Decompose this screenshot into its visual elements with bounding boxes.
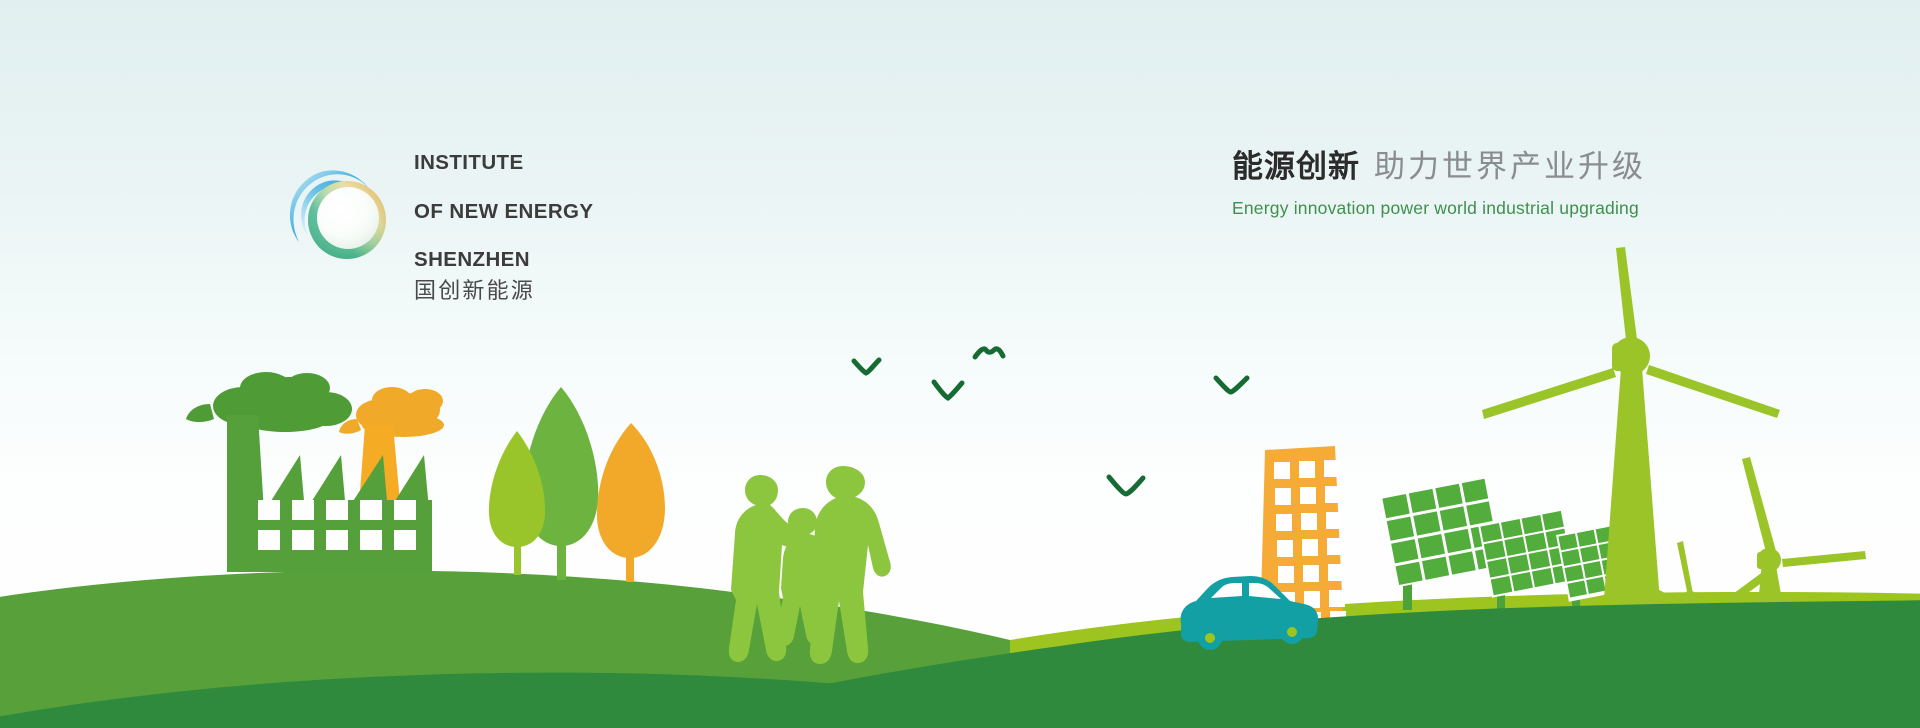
brand-name-en-line2: OF NEW ENERGY [414, 200, 593, 223]
brand-name-en-line3: SHENZHEN [414, 248, 530, 271]
scene-illustration [0, 0, 1920, 728]
brand-name-cn: 国创新能源 [414, 281, 593, 303]
institute-logo-icon [278, 154, 396, 272]
slogan-chinese-light: 助力世界产业升级 [1374, 149, 1646, 185]
slogan-chinese-strong: 能源创新 [1232, 149, 1360, 185]
brand-name-en-line1: INSTITUTE [414, 151, 524, 174]
sphere-swoosh-logo-icon [278, 154, 396, 272]
brand-name-en: INSTITUTE OF NEW ENERGY SHENZHEN [414, 127, 593, 272]
brand-lockup: INSTITUTE OF NEW ENERGY SHENZHEN 国创新能源 [278, 123, 593, 303]
energy-banner: INSTITUTE OF NEW ENERGY SHENZHEN 国创新能源 能… [0, 0, 1920, 728]
slogan-english: Energy innovation power world industrial… [1232, 198, 1646, 219]
slogan-chinese: 能源创新助力世界产业升级 [1232, 150, 1646, 184]
slogan-block: 能源创新助力世界产业升级 Energy innovation power wor… [1232, 150, 1646, 219]
car-wheel [1205, 633, 1215, 643]
brand-text: INSTITUTE OF NEW ENERGY SHENZHEN 国创新能源 [414, 123, 593, 303]
car-wheel [1287, 627, 1297, 637]
